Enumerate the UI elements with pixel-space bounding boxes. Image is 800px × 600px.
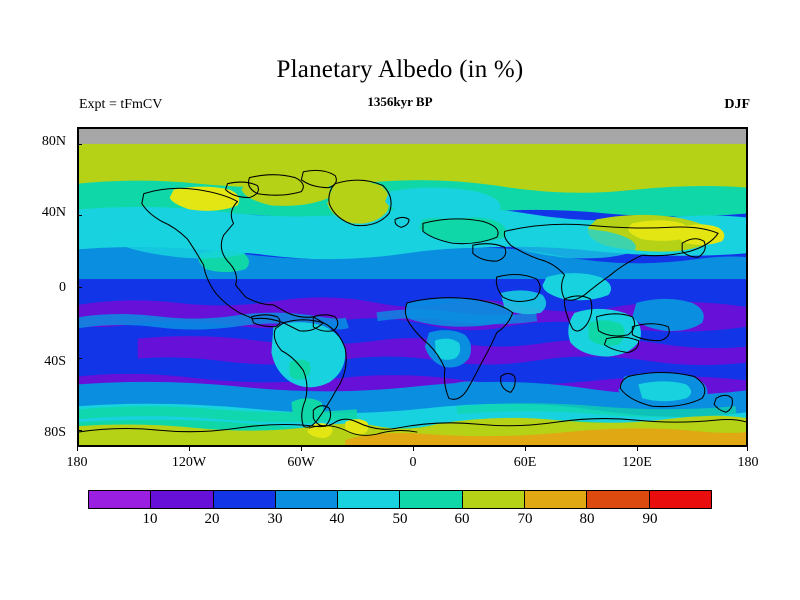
y-tick-40s: 40S [20, 354, 66, 370]
x-tick-mark [301, 447, 302, 451]
y-tick-80s: 80S [20, 425, 66, 441]
x-tick-60w: 60W [271, 455, 331, 471]
albedo-map [78, 128, 747, 446]
y-tick-0: 0 [20, 280, 66, 296]
colorbar-tick-20: 20 [192, 511, 232, 528]
y-tick-mark [78, 358, 82, 359]
colorbar-swatch-7 [524, 491, 586, 508]
colorbar-tick-60: 60 [442, 511, 482, 528]
colorbar-tick-50: 50 [380, 511, 420, 528]
x-tick-120w: 120W [159, 455, 219, 471]
x-tick-mark [747, 447, 748, 451]
colorbar-swatch-2 [213, 491, 275, 508]
page-title: Planetary Albedo (in %) [0, 56, 800, 84]
albedo-figure: Planetary Albedo (in %) 1356kyr BP Expt … [0, 0, 800, 600]
colorbar-tick-70: 70 [505, 511, 545, 528]
y-tick-80n: 80N [20, 134, 66, 150]
colorbar-swatch-9 [649, 491, 711, 508]
colorbar-tick-10: 10 [130, 511, 170, 528]
x-tick-mark [637, 447, 638, 451]
x-tick-mark [525, 447, 526, 451]
y-tick-40n: 40N [20, 205, 66, 221]
x-tick-60e: 60E [495, 455, 555, 471]
y-tick-mark [78, 144, 82, 145]
colorbar-swatch-8 [586, 491, 648, 508]
experiment-label: Expt = tFmCV [79, 97, 162, 113]
colorbar-swatch-5 [399, 491, 461, 508]
x-tick-120e: 120E [607, 455, 667, 471]
colorbar-tick-40: 40 [317, 511, 357, 528]
x-tick-mark [77, 447, 78, 451]
colorbar-swatch-1 [150, 491, 212, 508]
colorbar-swatch-0 [89, 491, 150, 508]
x-tick-180w: 180 [47, 455, 107, 471]
colorbar-swatch-6 [462, 491, 524, 508]
x-tick-180e: 180 [718, 455, 778, 471]
colorbar-swatch-3 [275, 491, 337, 508]
colorbar-tick-30: 30 [255, 511, 295, 528]
x-tick-mark [413, 447, 414, 451]
y-tick-mark [78, 287, 82, 288]
y-tick-mark [78, 215, 82, 216]
map-plot-area [77, 127, 748, 447]
season-label: DJF [724, 97, 750, 113]
colorbar-swatch-4 [337, 491, 399, 508]
x-tick-mark [189, 447, 190, 451]
colorbar [88, 490, 712, 509]
y-tick-mark [78, 430, 82, 431]
colorbar-tick-90: 90 [630, 511, 670, 528]
colorbar-tick-80: 80 [567, 511, 607, 528]
x-tick-0: 0 [383, 455, 443, 471]
